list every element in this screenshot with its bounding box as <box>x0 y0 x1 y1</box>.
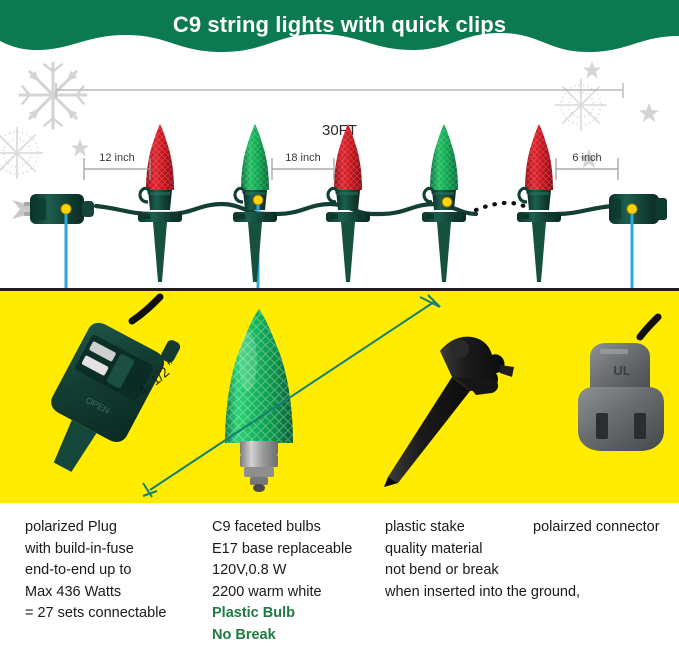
light-string-artwork <box>0 62 679 288</box>
page-title: C9 string lights with quick clips <box>0 12 679 38</box>
spec-line: when inserted into the ground, <box>385 582 580 604</box>
spec-column-plug: polarized Plug with build-in-fuse end-to… <box>25 517 166 625</box>
bulb-assembly-3 <box>326 124 370 282</box>
c9-faceted-bulb <box>225 309 293 492</box>
polarized-plug-with-fuse: OPEN <box>25 303 181 490</box>
clip-wire <box>140 188 149 202</box>
spec-line-highlight: Plastic Bulb <box>212 603 352 625</box>
svg-text:UL: UL <box>613 363 630 378</box>
clip-wire <box>519 188 528 202</box>
plastic-stake <box>143 295 514 497</box>
clip-wire <box>235 188 244 202</box>
spec-line-highlight: No Break <box>212 625 352 646</box>
spec-text-block: polarized Plug with build-in-fuse end-to… <box>0 503 679 642</box>
spec-line: polairzed connector <box>533 517 660 539</box>
stake-spike <box>153 222 167 282</box>
spec-line: not bend or break <box>385 560 580 582</box>
spacing-label-18-inch: 18 inch <box>285 152 320 164</box>
spec-line: quality material <box>385 539 580 561</box>
spec-line: E17 base replaceable <box>212 539 352 561</box>
bulb-assembly-4 <box>422 124 466 282</box>
male-plug <box>12 194 94 288</box>
clip-wire <box>424 188 433 202</box>
female-connector <box>609 194 667 288</box>
header-banner: C9 string lights with quick clips <box>0 0 679 62</box>
spec-line: = 27 sets connectable <box>25 603 166 625</box>
continuation-dotted-line <box>476 203 528 210</box>
spec-line: with build-in-fuse <box>25 539 166 561</box>
stake-spike <box>532 222 546 282</box>
spacing-label-12-inch: 12 inch <box>99 152 134 164</box>
parts-artwork: OPEN <box>0 291 679 500</box>
polarized-connector: UL <box>578 317 664 451</box>
spec-column-connector: polairzed connector <box>533 517 660 539</box>
clip-wire <box>328 188 337 202</box>
stake-spike <box>248 222 262 282</box>
product-infographic: C9 string lights with quick clips <box>0 0 679 642</box>
stake-spike <box>437 222 451 282</box>
spec-line: 120V,0.8 W <box>212 560 352 582</box>
string-light-diagram: 30FT 1 2 3 4 20 <box>0 62 679 288</box>
stake-spike <box>341 222 355 282</box>
bulb-assembly-20 <box>517 124 561 282</box>
spec-line: C9 faceted bulbs <box>212 517 352 539</box>
spec-column-bulb: C9 faceted bulbs E17 base replaceable 12… <box>212 517 352 646</box>
spec-line: end-to-end up to <box>25 560 166 582</box>
spec-line: 2200 warm white <box>212 582 352 604</box>
bulb-assembly-1 <box>138 117 182 282</box>
spec-line: polarized Plug <box>25 517 166 539</box>
spacing-label-6-inch: 6 inch <box>572 152 601 164</box>
parts-panel: OPEN <box>0 288 679 509</box>
spec-line: Max 436 Watts <box>25 582 166 604</box>
